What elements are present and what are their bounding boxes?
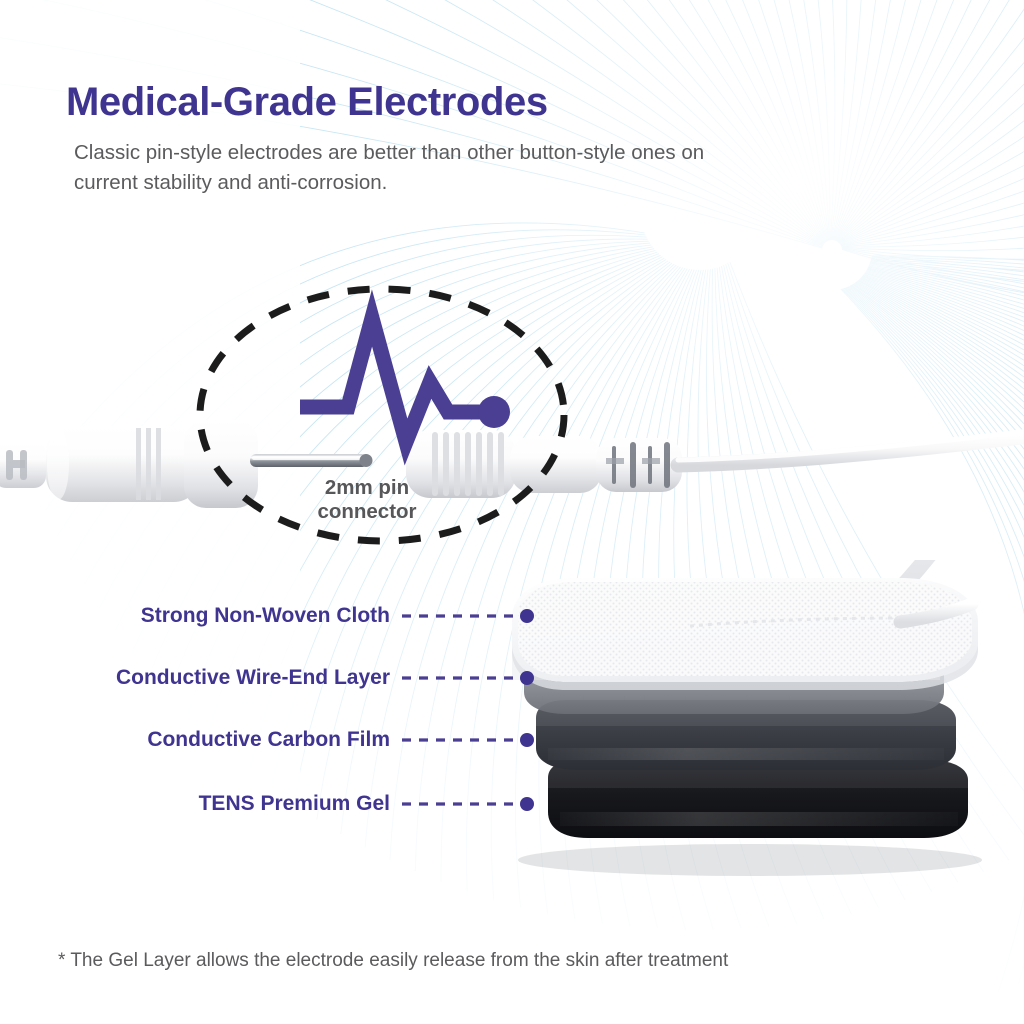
- page-title: Medical-Grade Electrodes: [66, 80, 766, 124]
- inline-connector: [596, 438, 682, 492]
- leader-dot-wire-end: [520, 671, 534, 685]
- leader-lines: [380, 560, 570, 860]
- callout-caption-line2: connector: [272, 500, 462, 524]
- callout-caption-line1: 2mm pin: [325, 476, 409, 499]
- ecg-endpoint-dot: [478, 396, 510, 428]
- product-infographic: Medical-Grade Electrodes Classic pin-sty…: [0, 0, 1024, 1024]
- header-block: Medical-Grade Electrodes Classic pin-sty…: [66, 80, 766, 199]
- leader-dot-cloth: [520, 609, 534, 623]
- layer-cloth: [512, 578, 978, 690]
- metal-pin: [250, 454, 373, 467]
- leader-dot-carbon: [520, 733, 534, 747]
- callout-caption: 2mm pin connector: [272, 476, 462, 524]
- connector-illustration: [0, 270, 1024, 570]
- layer-label-column: Strong Non-Woven Cloth Conductive Wire-E…: [0, 560, 390, 860]
- layer-label-gel: TENS Premium Gel: [0, 792, 390, 816]
- cable-left-stub: [0, 442, 46, 488]
- layer-gel: [548, 760, 968, 838]
- layer-label-cloth: Strong Non-Woven Cloth: [0, 604, 390, 628]
- layer-label-wire-end: Conductive Wire-End Layer: [0, 666, 390, 690]
- connector-callout: 2mm pin connector: [0, 270, 1024, 570]
- layer-label-carbon: Conductive Carbon Film: [0, 728, 390, 752]
- ecg-waveform-icon: [300, 318, 486, 442]
- page-subtitle: Classic pin-style electrodes are better …: [74, 138, 734, 199]
- leader-dot-gel: [520, 797, 534, 811]
- pin-plug-body: [46, 420, 258, 508]
- footnote: * The Gel Layer allows the electrode eas…: [58, 950, 728, 972]
